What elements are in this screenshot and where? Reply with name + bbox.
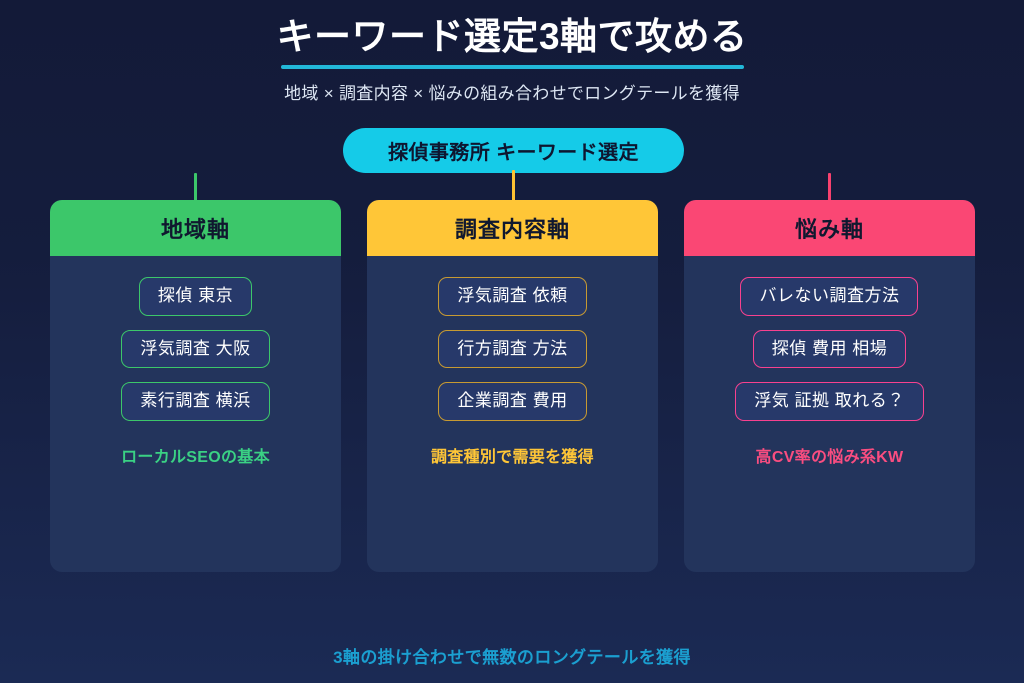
connector-line-left (194, 173, 197, 202)
center-node-keyword-selection: 探偵事務所 キーワード選定 (343, 128, 684, 173)
keyword-chip-list-investigation-type: 浮気調査 依頼 行方調査 方法 企業調査 費用 (438, 277, 586, 421)
keyword-chip: 探偵 東京 (139, 277, 252, 316)
axis-card-investigation-type: 調査内容軸 浮気調査 依頼 行方調査 方法 企業調査 費用 調査種別で需要を獲得 (367, 200, 658, 572)
title-underline-accent (281, 65, 744, 69)
axis-card-header-investigation-type: 調査内容軸 (367, 200, 658, 256)
axis-header-label: 悩み軸 (795, 212, 864, 244)
center-node-label: 探偵事務所 キーワード選定 (388, 136, 639, 165)
page-title: キーワード選定3軸で攻める (0, 14, 1024, 60)
connector-line-right (828, 173, 831, 202)
keyword-chip: 素行調査 横浜 (121, 382, 269, 421)
axis-card-caption: 調査種別で需要を獲得 (431, 443, 594, 467)
axis-card-header-concern: 悩み軸 (684, 200, 975, 256)
page-subtitle: 地域 × 調査内容 × 悩みの組み合わせでロングテールを獲得 (0, 79, 1024, 104)
connector-line-center (512, 170, 515, 202)
axis-header-label: 調査内容軸 (455, 212, 570, 244)
axis-card-caption: ローカルSEOの基本 (121, 443, 270, 467)
keyword-chip: 企業調査 費用 (438, 382, 586, 421)
infographic-canvas: キーワード選定3軸で攻める 地域 × 調査内容 × 悩みの組み合わせでロングテー… (0, 0, 1024, 683)
keyword-chip-list-region: 探偵 東京 浮気調査 大阪 素行調査 横浜 (121, 277, 269, 421)
keyword-chip: 探偵 費用 相場 (753, 330, 906, 369)
keyword-chip: 浮気調査 大阪 (121, 330, 269, 369)
axis-card-region: 地域軸 探偵 東京 浮気調査 大阪 素行調査 横浜 ローカルSEOの基本 (50, 200, 341, 572)
axis-header-label: 地域軸 (161, 212, 230, 244)
keyword-chip: 行方調査 方法 (438, 330, 586, 369)
axis-card-caption: 高CV率の悩み系KW (756, 443, 904, 467)
axis-card-header-region: 地域軸 (50, 200, 341, 256)
keyword-chip-list-concern: バレない調査方法 探偵 費用 相場 浮気 証拠 取れる？ (735, 277, 923, 421)
axis-columns: 地域軸 探偵 東京 浮気調査 大阪 素行調査 横浜 ローカルSEOの基本 調査内… (0, 200, 1024, 572)
footer-note: 3軸の掛け合わせで無数のロングテールを獲得 (0, 643, 1024, 668)
keyword-chip: 浮気 証拠 取れる？ (735, 382, 923, 421)
keyword-chip: バレない調査方法 (740, 277, 918, 316)
keyword-chip: 浮気調査 依頼 (438, 277, 586, 316)
axis-card-concern: 悩み軸 バレない調査方法 探偵 費用 相場 浮気 証拠 取れる？ 高CV率の悩み… (684, 200, 975, 572)
